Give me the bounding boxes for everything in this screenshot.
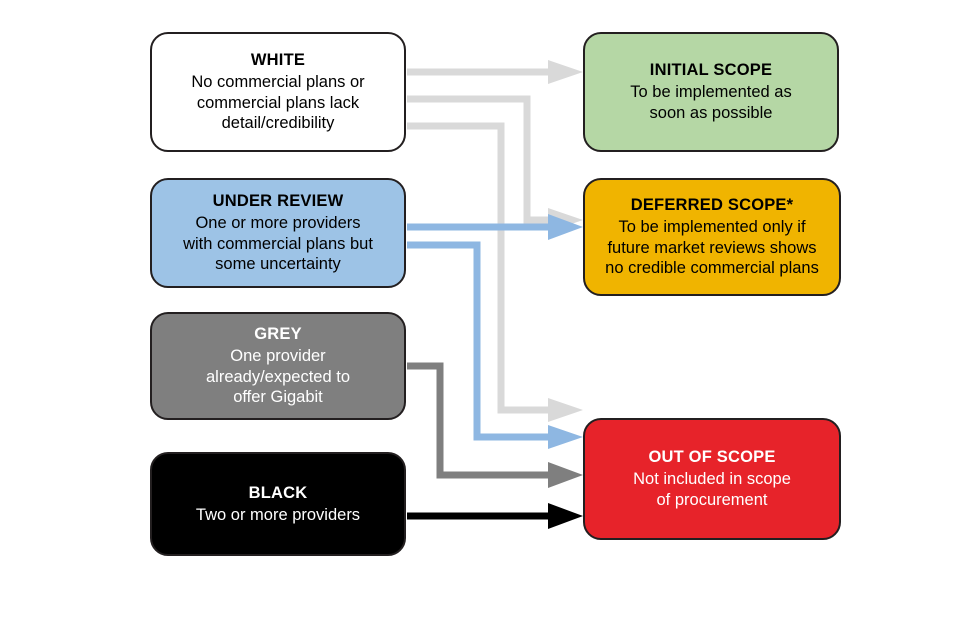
node-black[interactable]: BLACK Two or more providers bbox=[150, 452, 406, 556]
node-grey[interactable]: GREY One provider already/expected to of… bbox=[150, 312, 406, 420]
node-white-title: WHITE bbox=[251, 50, 305, 71]
connector-white-to-out-of-scope bbox=[407, 126, 583, 422]
node-initial-scope-line-2: soon as possible bbox=[630, 103, 791, 124]
connector-under-review-to-deferred-scope bbox=[407, 214, 583, 240]
node-under-review-line-2: with commercial plans but bbox=[183, 234, 373, 255]
connector-white-to-initial-scope bbox=[407, 60, 583, 84]
node-out-of-scope-line-1: Not included in scope bbox=[633, 469, 791, 490]
node-grey-line-1: One provider bbox=[206, 346, 350, 367]
node-deferred-scope-line-1: To be implemented only if bbox=[605, 217, 819, 238]
node-under-review-line-3: some uncertainty bbox=[183, 254, 373, 275]
node-initial-scope-title: INITIAL SCOPE bbox=[650, 60, 772, 81]
node-white-line-2: commercial plans lack bbox=[191, 93, 364, 114]
node-out-of-scope-description: Not included in scope of procurement bbox=[633, 469, 791, 511]
node-deferred-scope[interactable]: DEFERRED SCOPE* To be implemented only i… bbox=[583, 178, 841, 296]
node-black-line-1: Two or more providers bbox=[196, 505, 360, 526]
node-initial-scope-line-1: To be implemented as bbox=[630, 82, 791, 103]
node-deferred-scope-line-3: no credible commercial plans bbox=[605, 258, 819, 279]
node-out-of-scope-line-2: of procurement bbox=[633, 490, 791, 511]
node-white-line-3: detail/credibility bbox=[191, 113, 364, 134]
node-under-review-description: One or more providers with commercial pl… bbox=[183, 213, 373, 275]
connector-white-to-deferred-scope bbox=[407, 99, 583, 232]
node-initial-scope[interactable]: INITIAL SCOPE To be implemented as soon … bbox=[583, 32, 839, 152]
node-grey-line-3: offer Gigabit bbox=[206, 387, 350, 408]
node-under-review[interactable]: UNDER REVIEW One or more providers with … bbox=[150, 178, 406, 288]
node-white-description: No commercial plans or commercial plans … bbox=[191, 72, 364, 134]
node-white-line-1: No commercial plans or bbox=[191, 72, 364, 93]
node-white[interactable]: WHITE No commercial plans or commercial … bbox=[150, 32, 406, 152]
node-out-of-scope-title: OUT OF SCOPE bbox=[648, 447, 775, 468]
connector-under-review-to-out-of-scope bbox=[407, 245, 583, 449]
node-out-of-scope[interactable]: OUT OF SCOPE Not included in scope of pr… bbox=[583, 418, 841, 540]
node-grey-title: GREY bbox=[254, 324, 302, 345]
node-deferred-scope-title: DEFERRED SCOPE* bbox=[631, 195, 794, 216]
node-deferred-scope-line-2: future market reviews shows bbox=[605, 238, 819, 259]
node-under-review-title: UNDER REVIEW bbox=[213, 191, 344, 212]
node-black-title: BLACK bbox=[249, 483, 308, 504]
node-grey-line-2: already/expected to bbox=[206, 367, 350, 388]
node-initial-scope-description: To be implemented as soon as possible bbox=[630, 82, 791, 124]
node-under-review-line-1: One or more providers bbox=[183, 213, 373, 234]
connector-grey-to-out-of-scope bbox=[407, 366, 583, 488]
node-grey-description: One provider already/expected to offer G… bbox=[206, 346, 350, 408]
diagram-canvas: WHITE No commercial plans or commercial … bbox=[0, 0, 960, 640]
node-black-description: Two or more providers bbox=[196, 505, 360, 526]
connector-black-to-out-of-scope bbox=[407, 503, 583, 529]
node-deferred-scope-description: To be implemented only if future market … bbox=[605, 217, 819, 279]
